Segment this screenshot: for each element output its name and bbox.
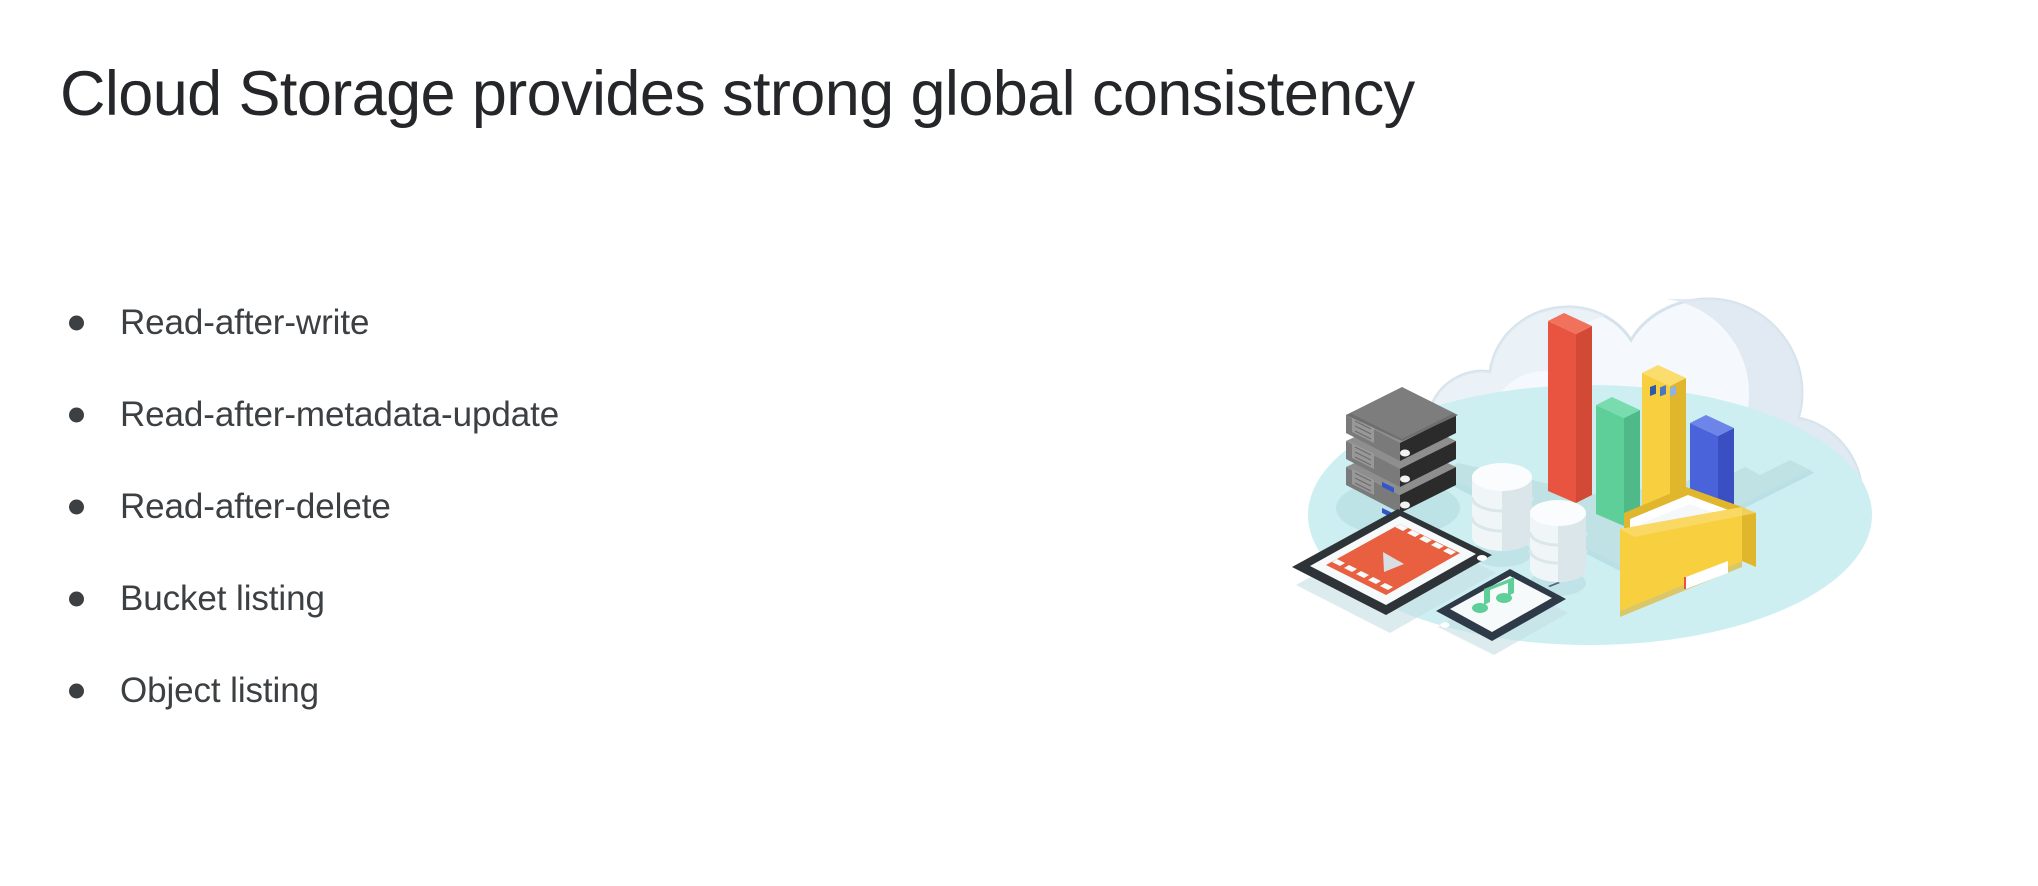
- feature-bullet-list: Read-after-write Read-after-metadata-upd…: [60, 288, 960, 726]
- bullet-dot-icon: [69, 316, 84, 331]
- page-title: Cloud Storage provides strong global con…: [60, 52, 1860, 136]
- bullet-dot-icon: [69, 592, 84, 607]
- cloud-storage-illustration: [1290, 255, 1910, 655]
- bullet-dot-icon: [69, 684, 84, 699]
- list-item: Read-after-metadata-update: [60, 380, 960, 450]
- list-item: Read-after-write: [60, 288, 960, 358]
- bar-green: [1596, 397, 1640, 526]
- list-item-label: Bucket listing: [120, 577, 325, 621]
- list-item-label: Read-after-delete: [120, 485, 391, 529]
- bullet-dot-icon: [69, 408, 84, 423]
- list-item: Read-after-delete: [60, 472, 960, 542]
- bullet-dot-icon: [69, 500, 84, 515]
- bar-red: [1548, 313, 1592, 503]
- list-item-label: Read-after-metadata-update: [120, 393, 559, 437]
- list-item-label: Object listing: [120, 669, 319, 713]
- list-item-label: Read-after-write: [120, 301, 369, 345]
- slide-root: Cloud Storage provides strong global con…: [0, 0, 2038, 886]
- list-item: Bucket listing: [60, 564, 960, 634]
- list-item: Object listing: [60, 656, 960, 726]
- storage-drum-small: [1530, 500, 1586, 596]
